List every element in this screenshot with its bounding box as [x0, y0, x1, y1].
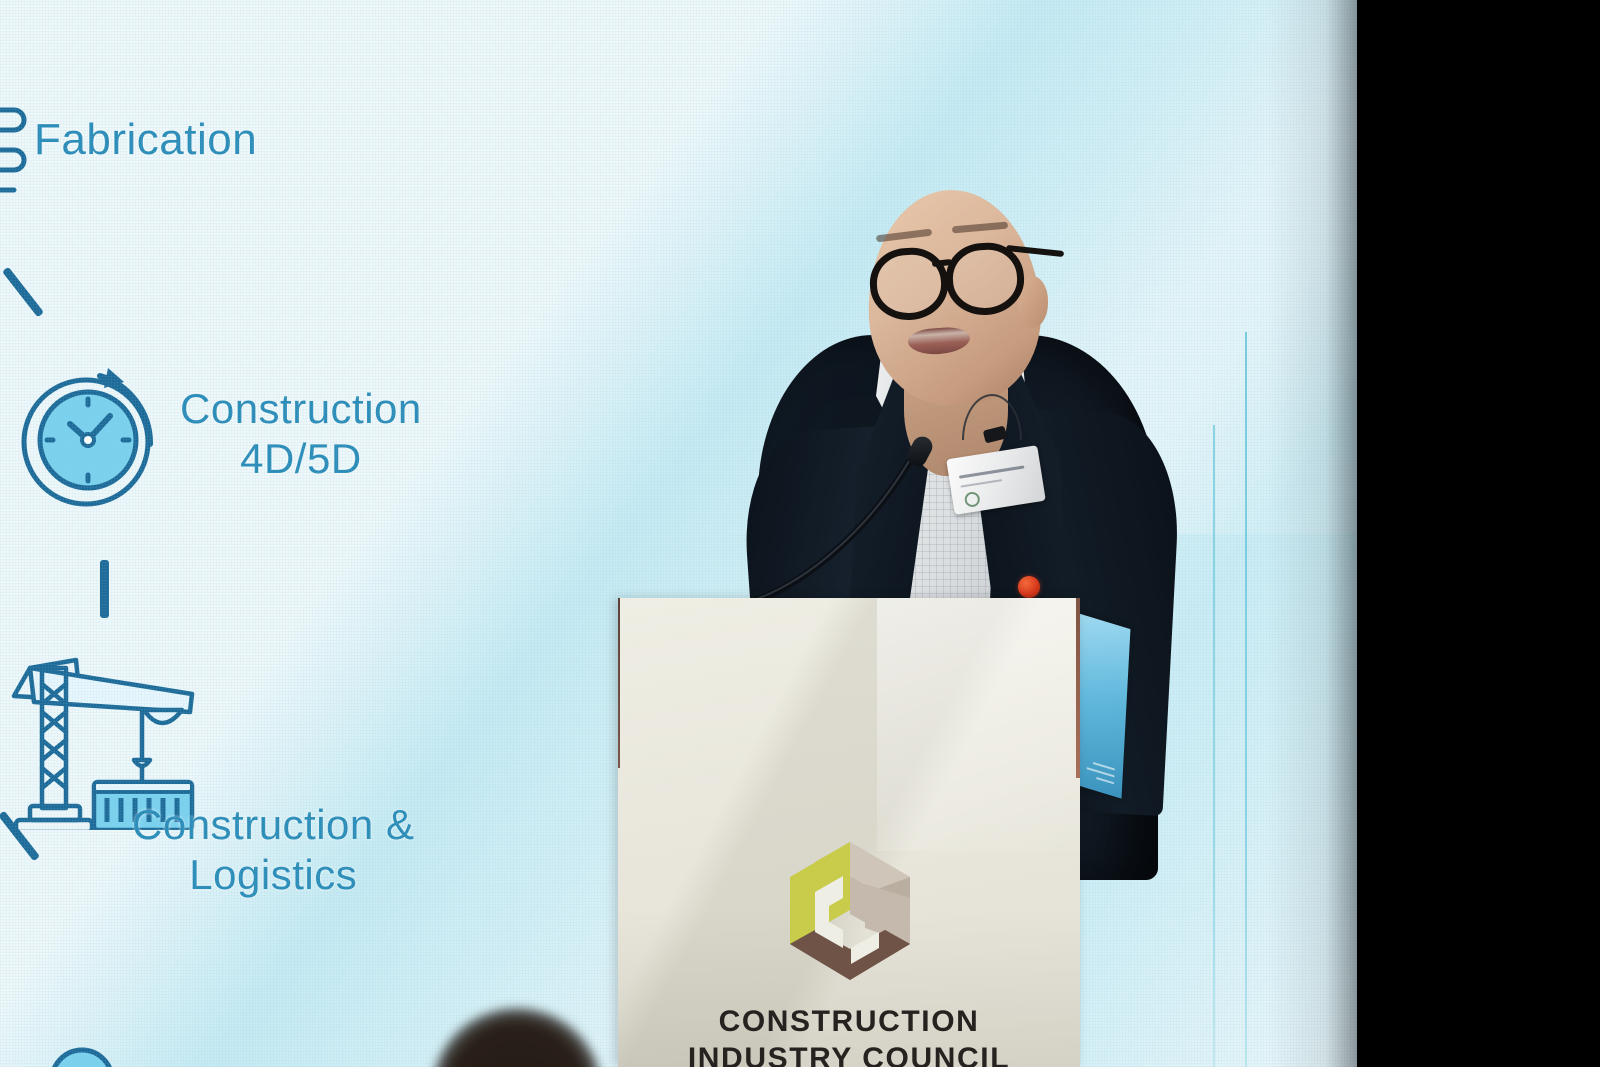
slide-partial-icon-bottom: [22, 1034, 152, 1067]
lapel-pin-icon: [1018, 576, 1040, 598]
podium-edge-left: [618, 598, 620, 768]
eyeglasses: [858, 240, 1058, 310]
slide-item-label-line1: Construction &: [132, 800, 414, 850]
slide-item-fabrication: Fabrication: [0, 96, 68, 216]
eyeglass-lens-right: [944, 240, 1027, 317]
slide-item-construction-4d5d-label: Construction 4D/5D: [180, 384, 422, 483]
name-badge-subtext-line: [960, 479, 1002, 488]
name-badge-logo-icon: [964, 491, 981, 508]
podium-edge-right: [1076, 598, 1080, 778]
cic-org-name: CONSTRUCTION INDUSTRY COUNCIL: [618, 1004, 1080, 1067]
podium-highlight: [877, 598, 1080, 851]
gooseneck-microphone: [742, 436, 932, 606]
slide-connector-vertical-mid: [100, 560, 109, 618]
slide-item-fabrication-label: Fabrication: [34, 114, 257, 166]
slide-decor-vline-1: [1245, 332, 1247, 1067]
cic-org-line1: CONSTRUCTION: [618, 1004, 1080, 1041]
cic-org-line2: INDUSTRY COUNCIL: [618, 1041, 1080, 1067]
slide-item-label-line2: Logistics: [132, 850, 414, 900]
conference-photo-scene: Fabrication Con: [0, 0, 1600, 1067]
slide-item-label-line2: 4D/5D: [180, 434, 422, 484]
name-badge-text-line: [959, 465, 1025, 478]
screen-right-shadow: [1267, 0, 1357, 1067]
slide-item-label-line1: Construction: [180, 384, 422, 434]
slide-decor-vline-2: [1213, 425, 1215, 1067]
clock-cycle-icon: [4, 352, 180, 528]
document-line: [1096, 777, 1114, 784]
lectern-podium: [618, 598, 1080, 1067]
slide-item-construction-4d5d: Construction 4D/5D: [4, 352, 180, 528]
cic-hexagon-logo: [755, 836, 945, 986]
slide-item-construction-logistics-label: Construction & Logistics: [132, 800, 414, 899]
slide-item-construction-logistics: Construction & Logistics: [4, 640, 204, 830]
